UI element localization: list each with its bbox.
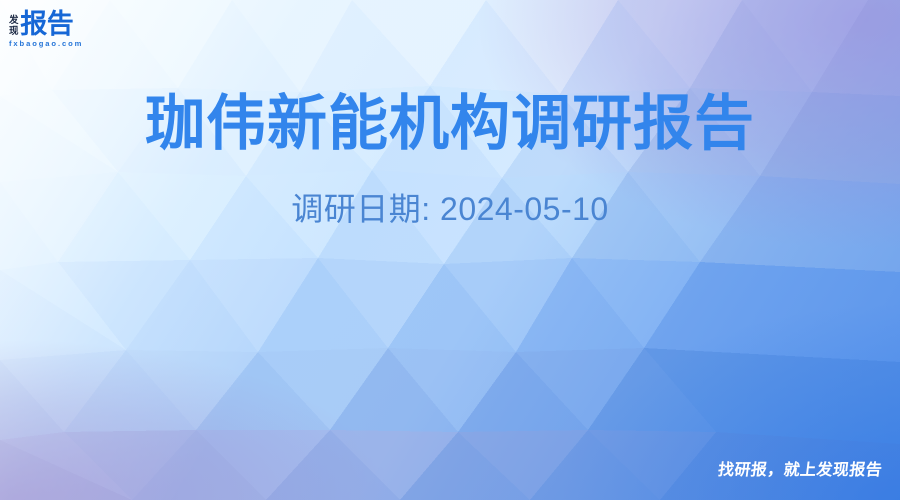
report-cover-slide: 发 现 报告 fxbaogao.com 珈伟新能机构调研报告 调研日期: 202… bbox=[0, 0, 900, 500]
logo-mark-char-2: 现 bbox=[9, 27, 18, 38]
page-title: 珈伟新能机构调研报告 bbox=[0, 88, 900, 160]
footer-tagline: 找研报，就上发现报告 bbox=[717, 461, 883, 481]
cover-headline-block: 珈伟新能机构调研报告 调研日期: 2024-05-10 bbox=[0, 88, 900, 230]
low-poly-background bbox=[0, 0, 900, 500]
logo-wordmark: 报告 bbox=[20, 11, 73, 38]
brand-logo[interactable]: 发 现 报告 fxbaogao.com bbox=[9, 8, 105, 52]
logo-url: fxbaogao.com bbox=[9, 39, 105, 48]
logo-mark-icon: 发 现 bbox=[9, 16, 18, 38]
survey-date-subtitle: 调研日期: 2024-05-10 bbox=[0, 188, 900, 230]
logo-wordmark-row: 发 现 报告 bbox=[9, 8, 105, 38]
logo-mark-char-1: 发 bbox=[9, 16, 18, 27]
